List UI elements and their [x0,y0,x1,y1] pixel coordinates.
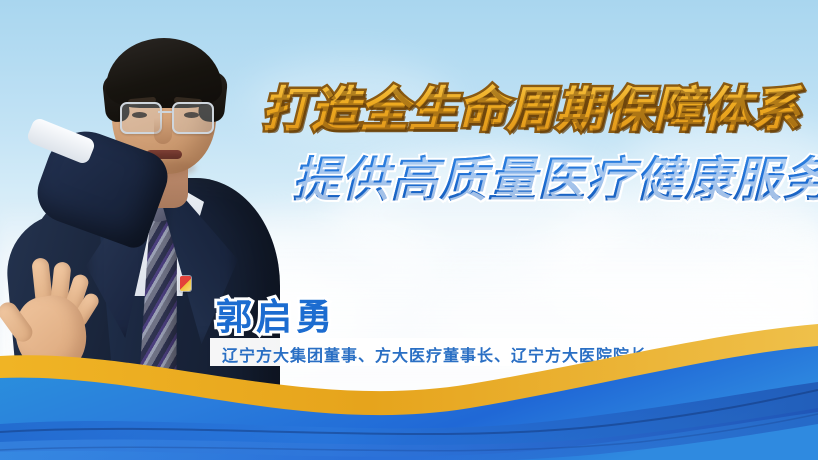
nose [154,118,172,144]
banner-stage: 打造全生命周期保障体系打造全生命周期保障体系 提供高质量医疗健康服务提供高质量医… [0,0,818,460]
hair [106,38,222,108]
bottom-wave-decoration [0,320,818,460]
wave-svg [0,320,818,460]
lapel-pin-icon [180,276,191,291]
lens-right [172,102,214,134]
